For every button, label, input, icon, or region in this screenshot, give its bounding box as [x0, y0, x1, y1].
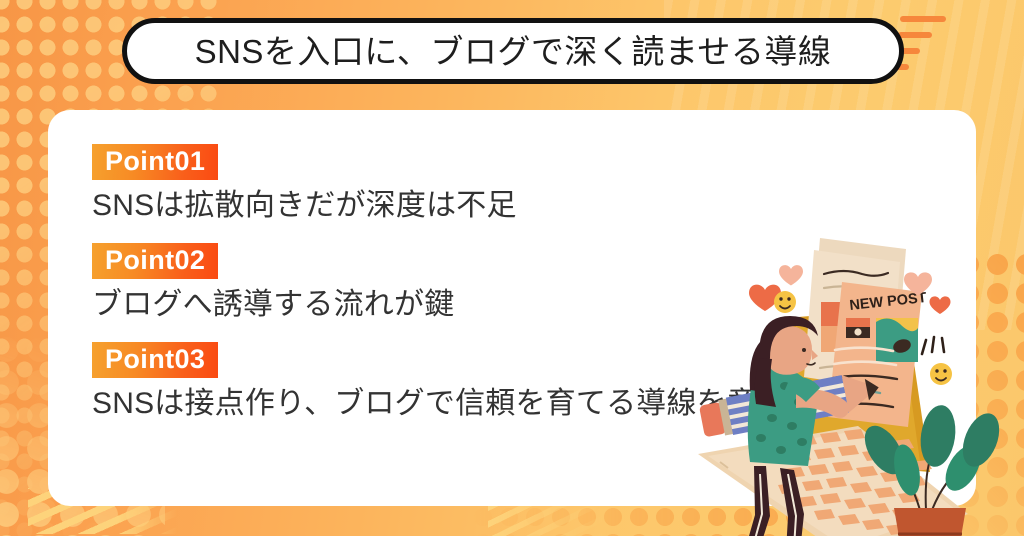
- illustration-woman-writing-blog: NEW POST: [668, 222, 1018, 536]
- points-list: Point01 SNSは拡散向きだが深度は不足 Point02 ブログへ誘導する…: [92, 144, 702, 423]
- point-item-2: Point02 ブログへ誘導する流れが鍵: [92, 243, 702, 324]
- point-item-1: Point01 SNSは拡散向きだが深度は不足: [92, 144, 702, 225]
- slide-title-pill: SNSを入口に、ブログで深く読ませる導線: [122, 18, 904, 84]
- point-item-3: Point03 SNSは接点作り、ブログで信頼を育てる導線を意識: [92, 342, 702, 423]
- slide-canvas: SNSを入口に、ブログで深く読ませる導線 Point01 SNSは拡散向きだが深…: [0, 0, 1024, 536]
- point-badge-2: Point02: [92, 243, 218, 279]
- point-badge-3: Point03: [92, 342, 218, 378]
- smiley-emoji-top: [774, 291, 796, 313]
- point-badge-1: Point01: [92, 144, 218, 180]
- content-card: Point01 SNSは拡散向きだが深度は不足 Point02 ブログへ誘導する…: [48, 110, 976, 506]
- sparkle-lines: [922, 337, 944, 354]
- point-text-2: ブログへ誘導する流れが鍵: [92, 286, 702, 324]
- smiley-emoji-right: [930, 363, 952, 385]
- point-text-1: SNSは拡散向きだが深度は不足: [92, 187, 702, 225]
- point-text-3: SNSは接点作り、ブログで信頼を育てる導線を意識: [92, 385, 702, 423]
- page-title: SNSを入口に、ブログで深く読ませる導線: [195, 35, 832, 68]
